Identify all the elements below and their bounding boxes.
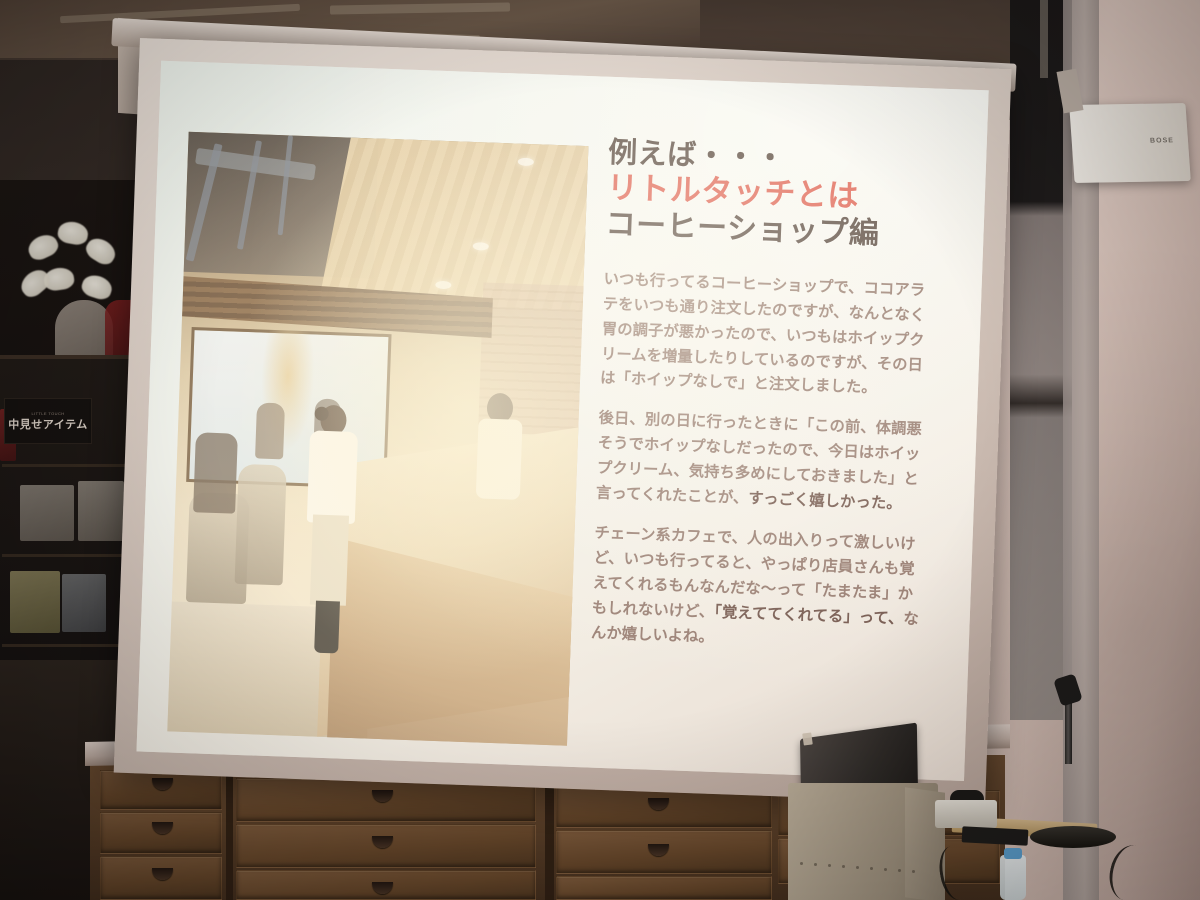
screen-surface: 例えば・・・ リトルタッチとは コーヒーショップ編 いつも行ってるコーヒーショッ… xyxy=(136,61,988,781)
shelf-sign-label: 中見せアイテム xyxy=(8,416,87,432)
photo-guest xyxy=(193,432,238,513)
slide-paragraph: チェーン系カフェで、人の出入りって激しいけど、いつも行ってると、やっぱり店員さん… xyxy=(591,522,925,658)
shelf-item xyxy=(78,481,124,541)
projector-screen: 例えば・・・ リトルタッチとは コーヒーショップ編 いつも行ってるコーヒーショッ… xyxy=(114,38,1012,804)
photo-downlight xyxy=(473,242,489,251)
shelf-item xyxy=(10,571,60,633)
av-device xyxy=(962,826,1029,845)
wall-speaker: BOSE xyxy=(1069,103,1191,183)
photo-barista xyxy=(475,392,523,513)
mic-stand-base xyxy=(1030,826,1116,848)
photo-downlight xyxy=(435,281,451,290)
shelf-item xyxy=(20,485,74,541)
slide-title: 例えば・・・ リトルタッチとは コーヒーショップ編 xyxy=(605,137,939,254)
photo-scene: LITTLE TOUCH 中見せアイテム BOSE xyxy=(0,0,1200,900)
cabinet-divider xyxy=(226,762,233,900)
photo-staff-member xyxy=(300,404,361,656)
drawer[interactable] xyxy=(100,770,222,810)
photo-staff-apron xyxy=(310,514,349,605)
speaker-cable xyxy=(1040,0,1048,78)
photo-chair xyxy=(235,464,287,586)
bottle-cap xyxy=(1004,848,1022,859)
slide-paragraph: 後日、別の日に行ったときに「この前、体調悪そうでホイップなしだったので、今日はホ… xyxy=(596,407,929,518)
photo-staff-legs xyxy=(314,601,340,654)
photo-barista-shirt xyxy=(476,418,523,500)
presentation-slide: 例えば・・・ リトルタッチとは コーヒーショップ編 いつも行ってるコーヒーショッ… xyxy=(136,61,988,781)
laptop-badge xyxy=(802,732,813,745)
podium-vent-holes xyxy=(800,862,930,882)
slide-paragraph: いつも行ってるコーヒーショップで、ココアラテをいつも通り注文したのですが、なんと… xyxy=(600,268,934,404)
shelf-item xyxy=(62,574,106,632)
slide-text-column: 例えば・・・ リトルタッチとは コーヒーショップ編 いつも行ってるコーヒーショッ… xyxy=(590,137,939,673)
slide-photo xyxy=(167,132,588,746)
water-bottle xyxy=(1000,855,1026,900)
shelf-sign: LITTLE TOUCH 中見せアイテム xyxy=(4,398,92,444)
photo-guest xyxy=(255,402,285,459)
speaker-brand-label: BOSE xyxy=(1150,137,1174,144)
mic-stand-upper-pole xyxy=(1065,700,1072,764)
photo-staff-shirt xyxy=(307,430,358,524)
drawer[interactable] xyxy=(556,876,772,900)
photo-downlight xyxy=(518,158,534,167)
mic-stand-lower-pole xyxy=(1063,760,1074,828)
av-receiver xyxy=(935,800,997,828)
